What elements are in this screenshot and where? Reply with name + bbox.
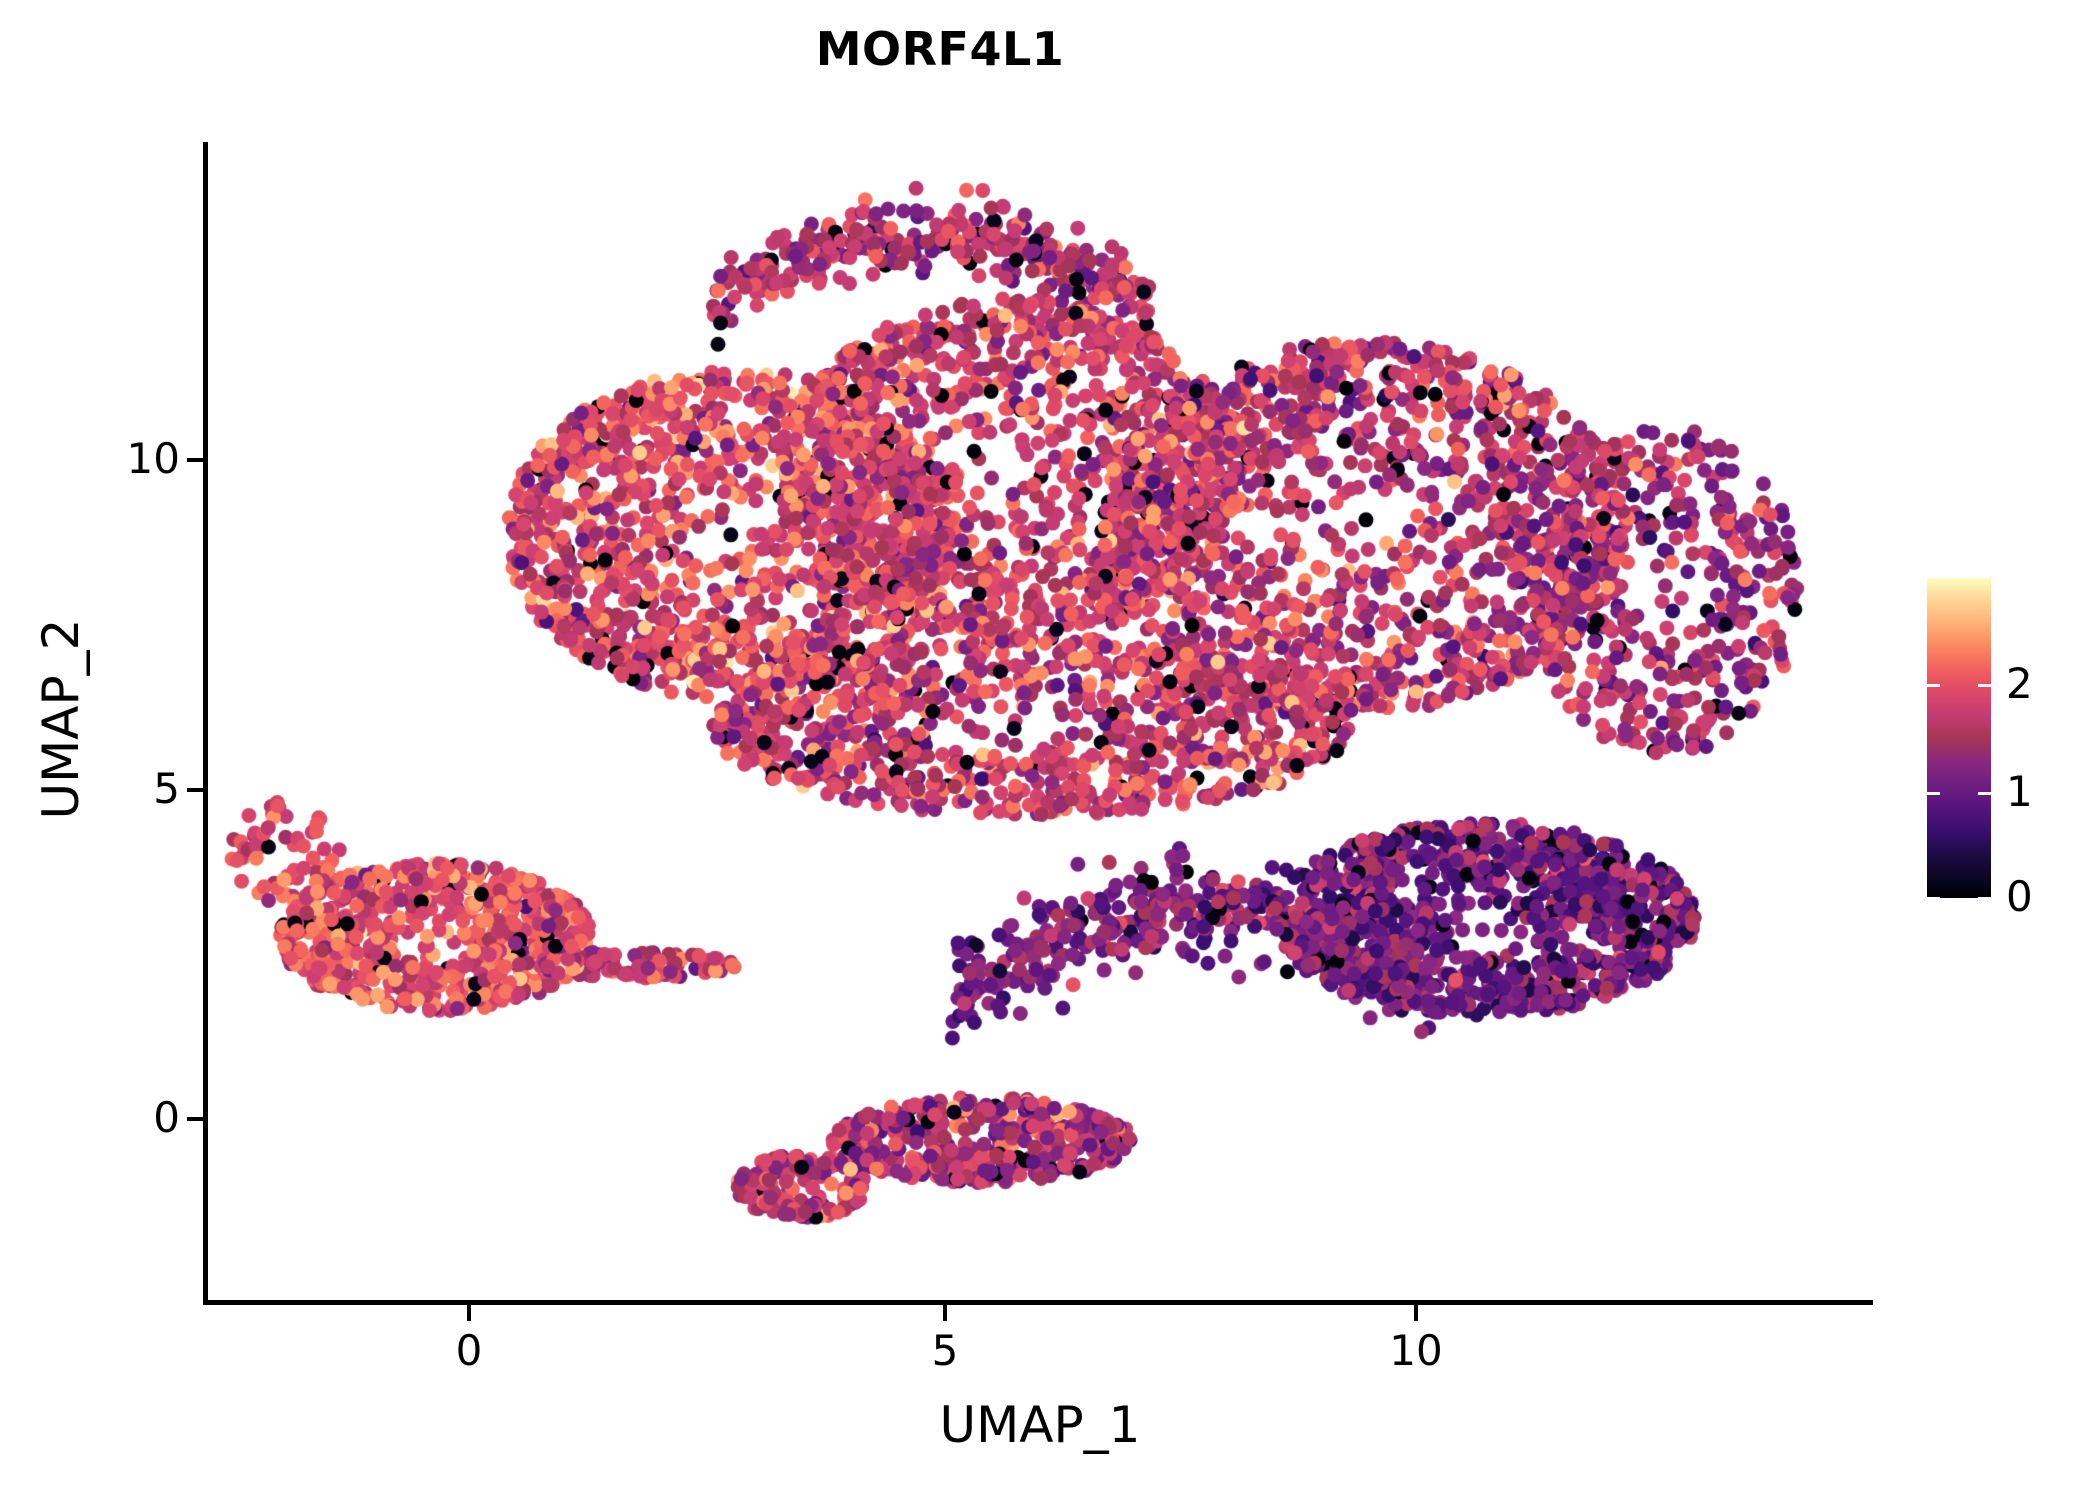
y-tick-mark-0 xyxy=(187,1117,203,1121)
x-tick-mark-5 xyxy=(943,1305,947,1321)
x-axis-title: UMAP_1 xyxy=(205,1396,1875,1454)
colorbar-tick-1-left xyxy=(1927,792,1940,795)
colorbar-label-0: 0 xyxy=(2006,876,2033,918)
y-axis-line xyxy=(203,142,208,1305)
y-tick-mark-5 xyxy=(187,788,203,792)
scatter-points-canvas xyxy=(205,142,1875,1304)
x-tick-label-5: 5 xyxy=(875,1330,1015,1372)
colorbar-tick-0-right xyxy=(1978,897,1991,900)
colorbar-tick-2-right xyxy=(1978,684,1991,687)
colorbar-legend: 2 1 0 xyxy=(1920,570,2090,910)
x-tick-label-0: 0 xyxy=(399,1330,539,1372)
y-tick-mark-10 xyxy=(187,458,203,462)
x-tick-mark-10 xyxy=(1414,1305,1418,1321)
colorbar-label-2: 2 xyxy=(2006,663,2033,705)
x-tick-label-10: 10 xyxy=(1346,1330,1486,1372)
colorbar-tick-2-left xyxy=(1927,684,1940,687)
colorbar-gradient xyxy=(1927,578,1991,898)
chart-page: MORF4L1 10 5 0 0 5 10 UMAP_1 UMAP_2 2 1 … xyxy=(0,0,2100,1500)
x-axis-line xyxy=(203,1300,1873,1305)
page-title: MORF4L1 xyxy=(0,22,1880,76)
colorbar-canvas xyxy=(1927,578,1991,898)
x-tick-mark-0 xyxy=(467,1305,471,1321)
colorbar-label-1: 1 xyxy=(2006,771,2033,813)
y-axis-title: UMAP_2 xyxy=(32,138,90,1300)
colorbar-tick-0-left xyxy=(1927,897,1940,900)
scatter-plot-panel xyxy=(205,142,1875,1304)
colorbar-tick-1-right xyxy=(1978,792,1991,795)
